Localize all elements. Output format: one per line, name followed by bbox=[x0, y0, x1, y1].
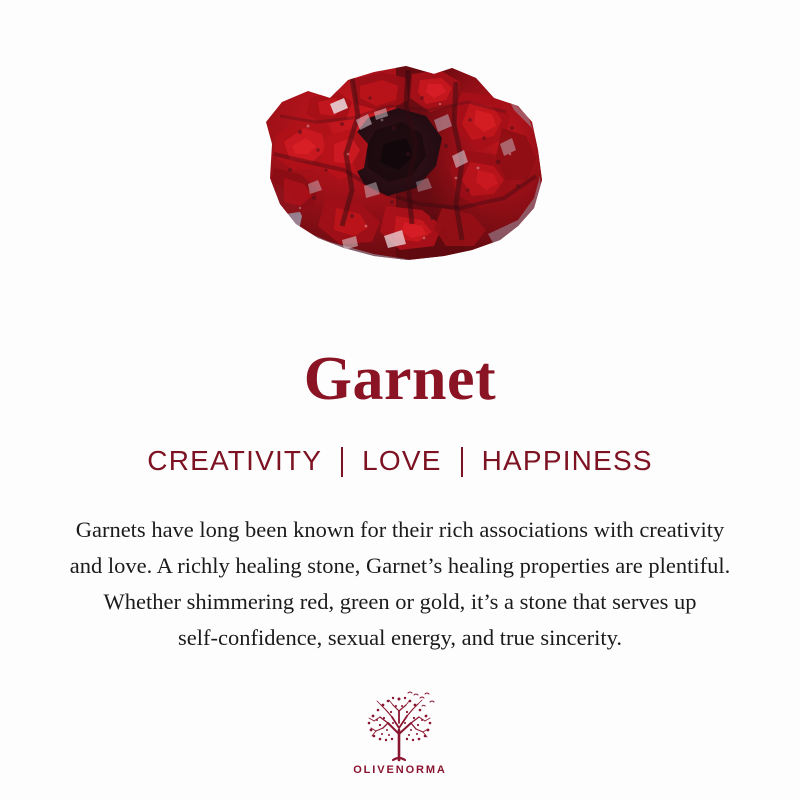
garnet-crystal-illustration bbox=[256, 58, 546, 266]
brand-wordmark: OLIVENORMA bbox=[353, 765, 447, 776]
description-line: Garnets have long been known for their r… bbox=[16, 512, 784, 548]
description-text: Garnets have long been known for their r… bbox=[16, 512, 784, 656]
keyword-separator bbox=[461, 447, 463, 477]
tree-of-life-icon bbox=[362, 690, 438, 762]
keyword-list: CREATIVITY LOVE HAPPINESS bbox=[147, 446, 652, 476]
brand-logo[interactable]: OLIVENORMA bbox=[353, 690, 447, 776]
keyword-separator bbox=[341, 447, 343, 477]
description-line: Whether shimmering red, green or gold, i… bbox=[16, 584, 784, 620]
keyword-love: LOVE bbox=[362, 447, 442, 475]
garnet-crystal-cluster bbox=[256, 58, 546, 266]
description-line: self-confidence, sexual energy, and true… bbox=[16, 620, 784, 656]
page-title: Garnet bbox=[304, 348, 496, 410]
description-line: and love. A richly healing stone, Garnet… bbox=[16, 548, 784, 584]
keyword-creativity: CREATIVITY bbox=[147, 447, 322, 475]
stone-image-area bbox=[0, 0, 800, 300]
keyword-happiness: HAPPINESS bbox=[482, 447, 653, 475]
gemstone-info-card: Garnet CREATIVITY LOVE HAPPINESS Garnets… bbox=[0, 0, 800, 800]
